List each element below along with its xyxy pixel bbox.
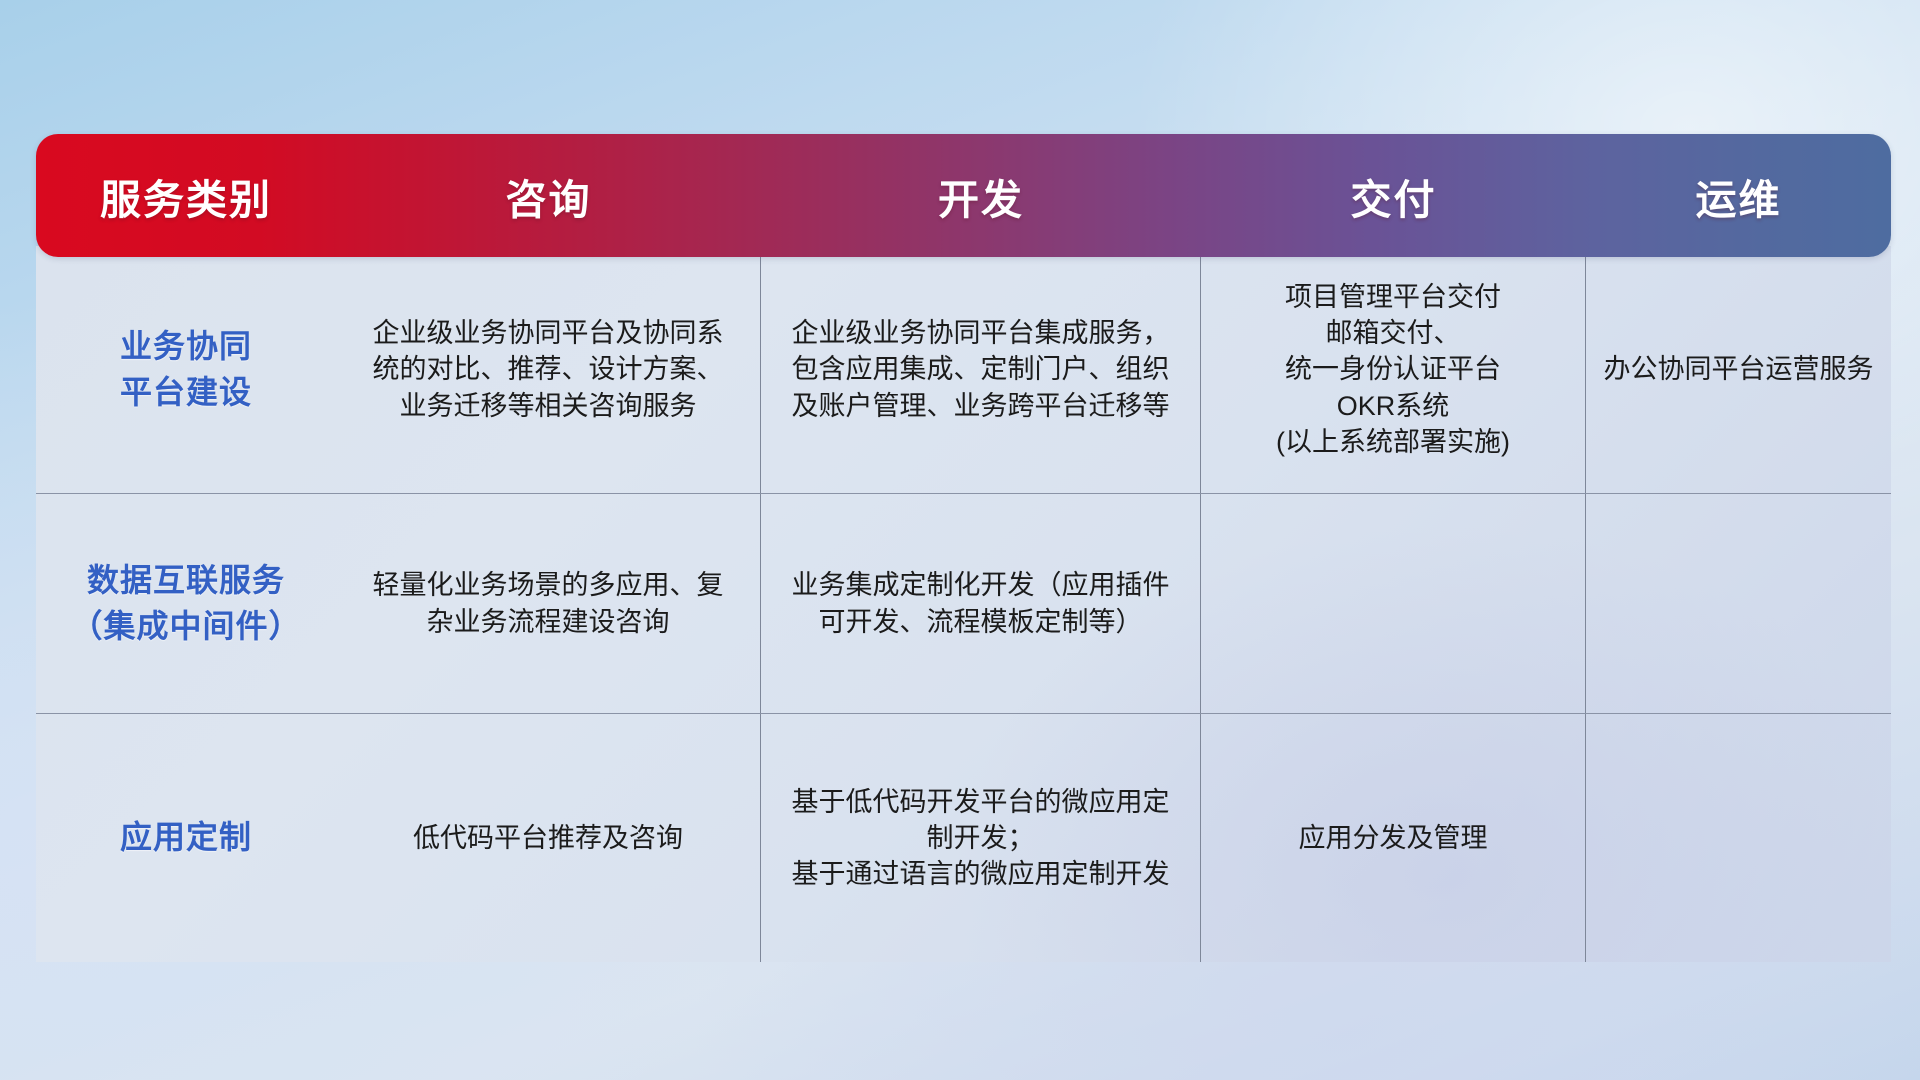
table-header-cell-service-category: 服务类别 xyxy=(36,134,336,257)
table-cell-category: 数据互联服务 （集成中间件） xyxy=(36,494,336,713)
table-header-row: 服务类别 咨询 开发 交付 运维 xyxy=(36,134,1891,257)
table-cell-category: 业务协同 平台建设 xyxy=(36,246,336,493)
table-header-label: 运维 xyxy=(1696,166,1782,226)
table-cell-delivery xyxy=(1201,494,1586,713)
table-header-cell-operations: 运维 xyxy=(1586,134,1891,257)
service-matrix-table: 服务类别 咨询 开发 交付 运维 业务协同 平台建设 企业级业务协同平台及协同系… xyxy=(36,134,1891,962)
table-header-label: 开发 xyxy=(938,166,1024,226)
table-header-label: 咨询 xyxy=(506,166,592,226)
table-header-cell-delivery: 交付 xyxy=(1201,134,1586,257)
table-row: 数据互联服务 （集成中间件） 轻量化业务场景的多应用、复 杂业务流程建设咨询 业… xyxy=(36,494,1891,714)
table-row: 应用定制 低代码平台推荐及咨询 基于低代码开发平台的微应用定 制开发； 基于通过… xyxy=(36,714,1891,962)
table-cell-operations xyxy=(1586,494,1891,713)
table-header-cell-development: 开发 xyxy=(761,134,1201,257)
table-body: 业务协同 平台建设 企业级业务协同平台及协同系 统的对比、推荐、设计方案、 业务… xyxy=(36,246,1891,962)
table-cell-delivery: 应用分发及管理 xyxy=(1201,714,1586,962)
table-cell-consulting: 企业级业务协同平台及协同系 统的对比、推荐、设计方案、 业务迁移等相关咨询服务 xyxy=(336,246,761,493)
table-cell-development: 基于低代码开发平台的微应用定 制开发； 基于通过语言的微应用定制开发 xyxy=(761,714,1201,962)
table-cell-development: 企业级业务协同平台集成服务， 包含应用集成、定制门户、组织 及账户管理、业务跨平… xyxy=(761,246,1201,493)
table-cell-consulting: 低代码平台推荐及咨询 xyxy=(336,714,761,962)
table-cell-delivery: 项目管理平台交付 邮箱交付、 统一身份认证平台 OKR系统 (以上系统部署实施) xyxy=(1201,246,1586,493)
table-cell-operations xyxy=(1586,714,1891,962)
table-cell-development: 业务集成定制化开发（应用插件 可开发、流程模板定制等） xyxy=(761,494,1201,713)
table-cell-category: 应用定制 xyxy=(36,714,336,962)
table-header-cell-consulting: 咨询 xyxy=(336,134,761,257)
slide-canvas: 服务类别 咨询 开发 交付 运维 业务协同 平台建设 企业级业务协同平台及协同系… xyxy=(0,0,1920,1080)
table-cell-operations: 办公协同平台运营服务 xyxy=(1586,246,1891,493)
table-header-label: 服务类别 xyxy=(100,166,272,226)
table-header-label: 交付 xyxy=(1351,166,1437,226)
table-cell-consulting: 轻量化业务场景的多应用、复 杂业务流程建设咨询 xyxy=(336,494,761,713)
table-row: 业务协同 平台建设 企业级业务协同平台及协同系 统的对比、推荐、设计方案、 业务… xyxy=(36,246,1891,494)
